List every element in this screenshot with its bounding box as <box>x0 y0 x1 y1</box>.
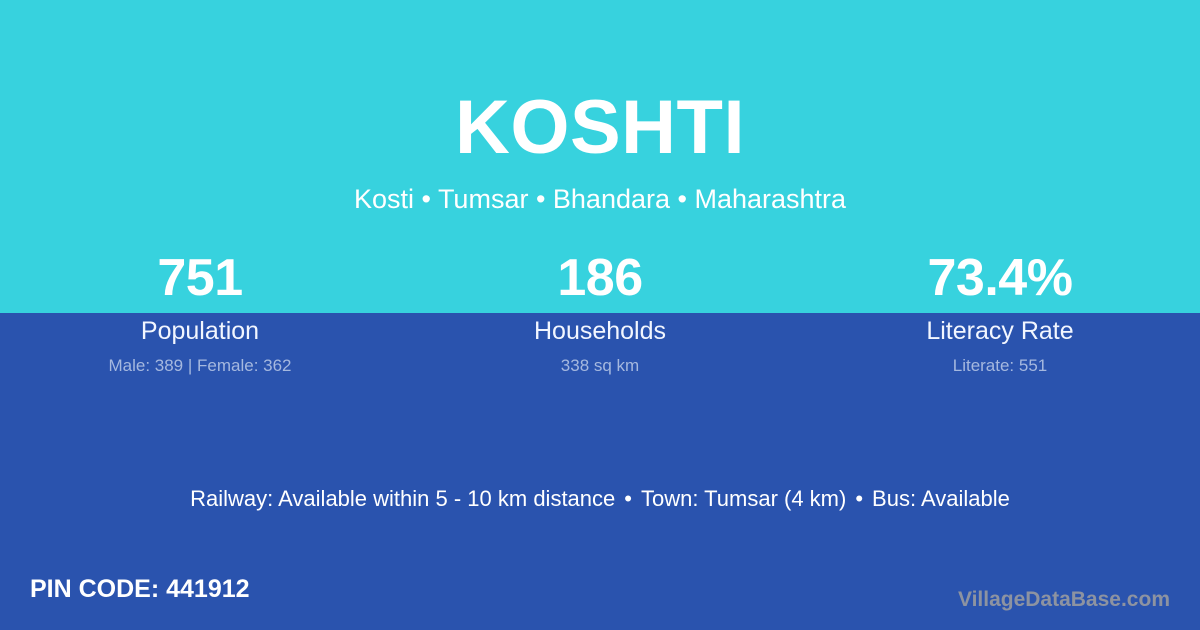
facility-railway: Railway: Available within 5 - 10 km dist… <box>190 486 615 511</box>
stats-row: 751 Population Male: 389 | Female: 362 1… <box>0 248 1200 376</box>
breadcrumb: Kosti • Tumsar • Bhandara • Maharashtra <box>0 182 1200 216</box>
stat-value: 73.4% <box>800 248 1200 308</box>
stat-households: 186 Households 338 sq km <box>400 248 800 376</box>
stat-value: 186 <box>400 248 800 308</box>
facilities-line: Railway: Available within 5 - 10 km dist… <box>0 484 1200 514</box>
stat-label: Households <box>400 316 800 346</box>
facility-town: Town: Tumsar (4 km) <box>641 486 846 511</box>
stat-population: 751 Population Male: 389 | Female: 362 <box>0 248 400 376</box>
stat-sublabel: 338 sq km <box>400 355 800 376</box>
page-title: KOSHTI <box>0 80 1200 176</box>
stat-literacy-rate: 73.4% Literacy Rate Literate: 551 <box>800 248 1200 376</box>
stat-label: Literacy Rate <box>800 316 1200 346</box>
facility-separator: • <box>615 484 641 514</box>
stat-sublabel: Male: 389 | Female: 362 <box>0 355 400 376</box>
village-info-card: KOSHTI Kosti • Tumsar • Bhandara • Mahar… <box>0 0 1200 630</box>
site-brand: VillageDataBase.com <box>958 587 1170 613</box>
stat-sublabel: Literate: 551 <box>800 355 1200 376</box>
facility-separator: • <box>846 484 872 514</box>
facility-bus: Bus: Available <box>872 486 1010 511</box>
pin-code: PIN CODE: 441912 <box>30 573 250 605</box>
stat-value: 751 <box>0 248 400 308</box>
stat-label: Population <box>0 316 400 346</box>
